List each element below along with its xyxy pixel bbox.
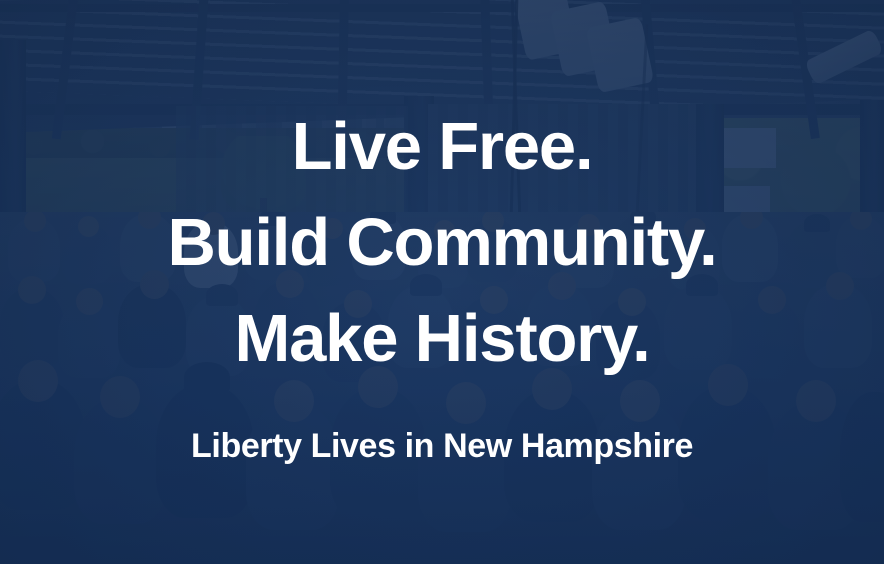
headline-line-2: Build Community. <box>167 195 716 291</box>
hero-content: Live Free. Build Community. Make History… <box>0 0 884 564</box>
hero-subtitle: Liberty Lives in New Hampshire <box>191 427 693 466</box>
headline-line-1: Live Free. <box>292 99 593 195</box>
hero-banner: Live Free. Build Community. Make History… <box>0 0 884 564</box>
headline-line-3: Make History. <box>234 291 649 387</box>
